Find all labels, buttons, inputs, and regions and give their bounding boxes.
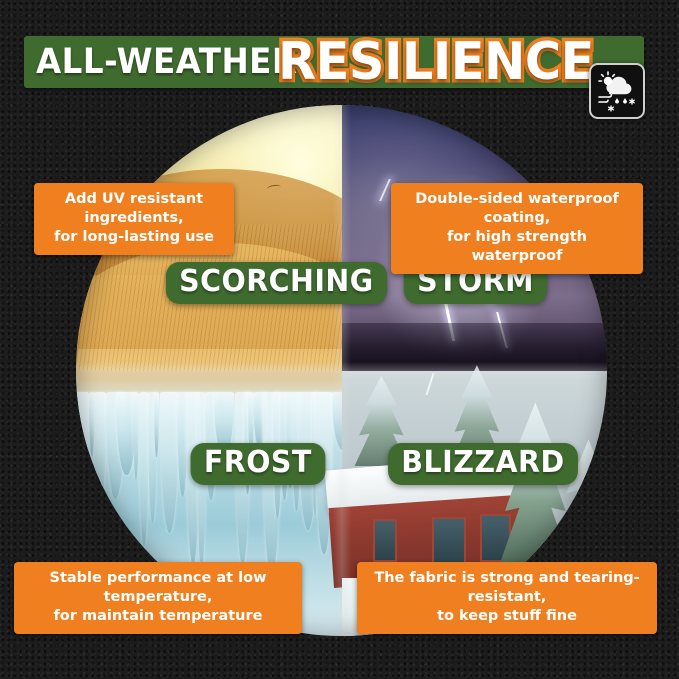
- label-blizzard: BLIZZARD: [388, 443, 578, 485]
- lightning-bolt: [379, 179, 391, 201]
- cabin-window: [432, 517, 467, 565]
- caption-scorching: Add UV resistant ingredients, for long-l…: [34, 183, 234, 255]
- header-banner: ALL-WEATHER RESILIENCE: [0, 26, 679, 98]
- icicle: [154, 392, 160, 458]
- collage-seam-horizontal: [76, 362, 607, 380]
- caption-blizzard: The fabric is strong and tearing-resista…: [357, 562, 657, 634]
- icicle: [76, 392, 89, 550]
- caption-storm: Double-sided waterproof coating, for hig…: [391, 183, 643, 274]
- page-title-primary: ALL-WEATHER: [36, 42, 297, 82]
- label-scorching: SCORCHING: [166, 262, 387, 304]
- page-title-accent: RESILIENCE: [278, 31, 594, 93]
- caption-frost: Stable performance at low temperature, f…: [14, 562, 302, 634]
- label-frost: FROST: [191, 443, 326, 485]
- icicle: [94, 392, 106, 513]
- icicle: [133, 392, 139, 480]
- cabin-window: [373, 519, 397, 561]
